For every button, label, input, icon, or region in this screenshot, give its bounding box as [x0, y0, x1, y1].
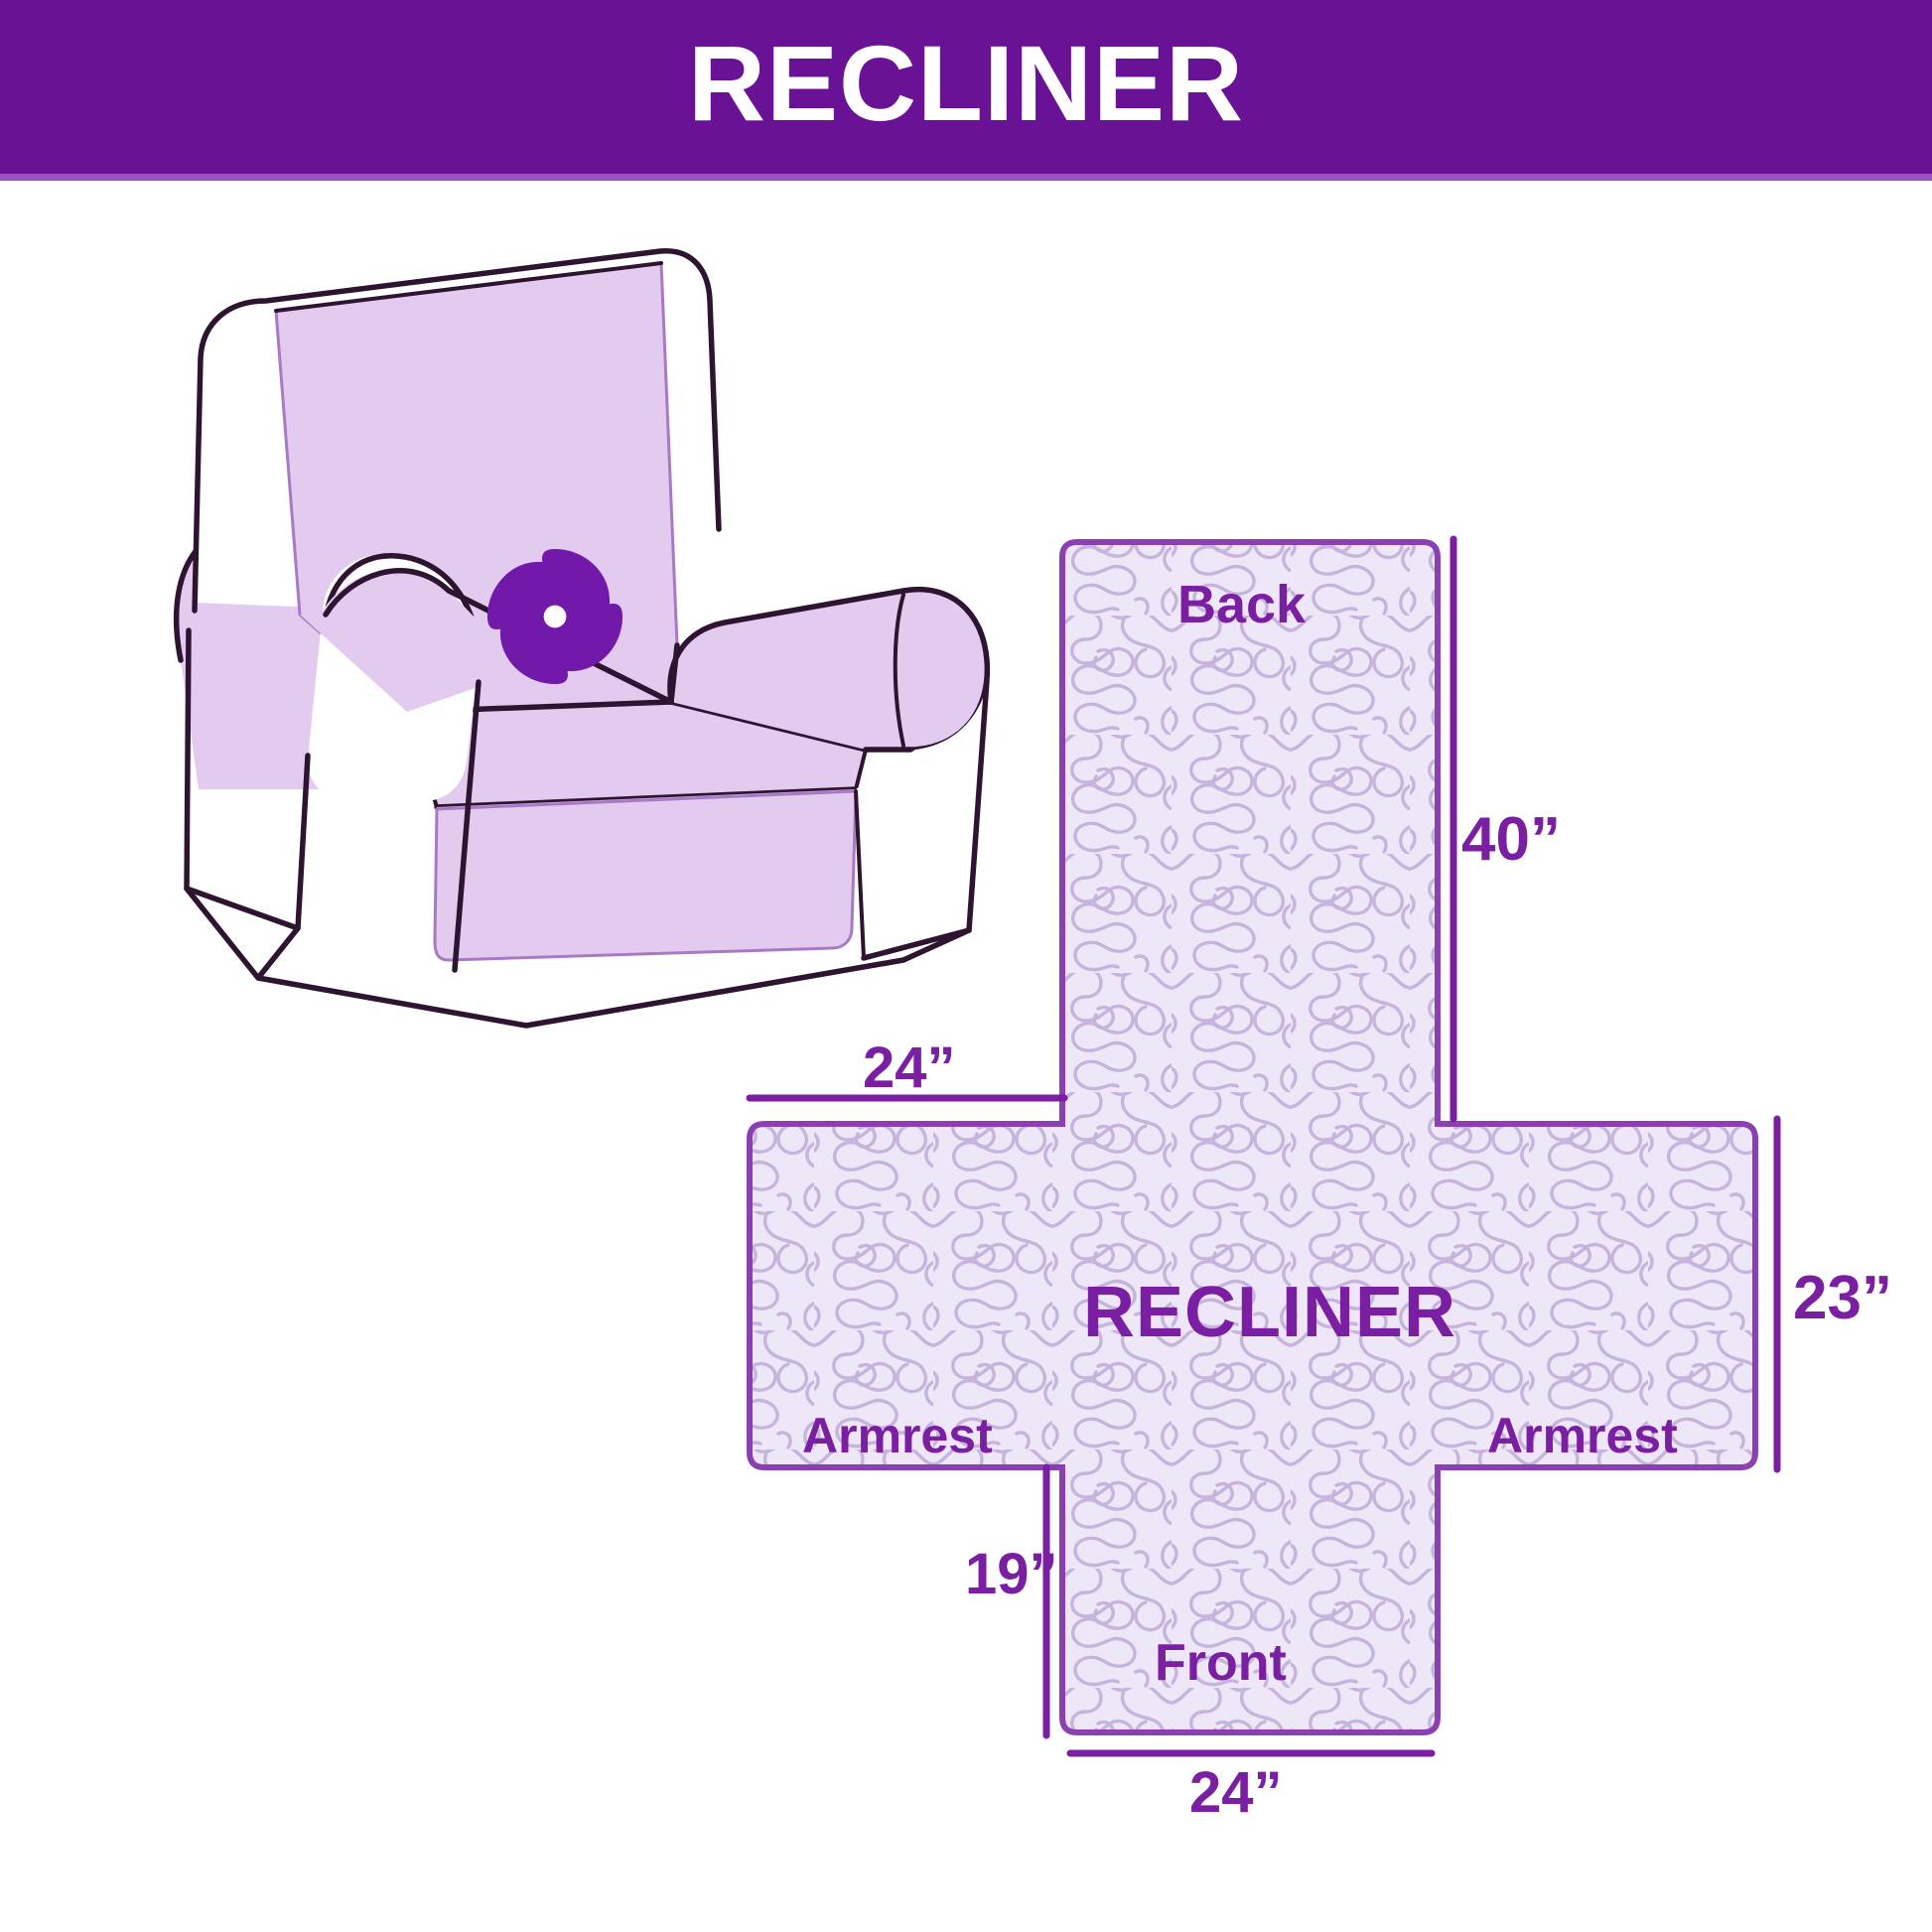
- cross-slipcover-shape: [750, 542, 1755, 1732]
- dimension-label-front-height: 19”: [965, 1541, 1058, 1607]
- panel-label-armrest-left: Armrest: [802, 1407, 993, 1464]
- dimension-label-front-width: 24”: [1189, 1759, 1283, 1826]
- panel-label-armrest-right: Armrest: [1487, 1407, 1678, 1464]
- panel-label-front: Front: [1155, 1633, 1287, 1693]
- panel-label-recliner-center: RECLINER: [1083, 1272, 1456, 1353]
- panel-label-back: Back: [1177, 574, 1306, 635]
- dimension-label-seat-depth: 23”: [1793, 1263, 1892, 1333]
- header-underline-divider: [0, 174, 1932, 181]
- dimension-label-back-width: 24”: [863, 1035, 956, 1101]
- page-header: RECLINER: [0, 0, 1932, 174]
- page-title: RECLINER: [688, 30, 1244, 137]
- dimension-label-back-height: 40”: [1461, 804, 1561, 875]
- slipcover-cross-diagram: [695, 496, 1866, 1817]
